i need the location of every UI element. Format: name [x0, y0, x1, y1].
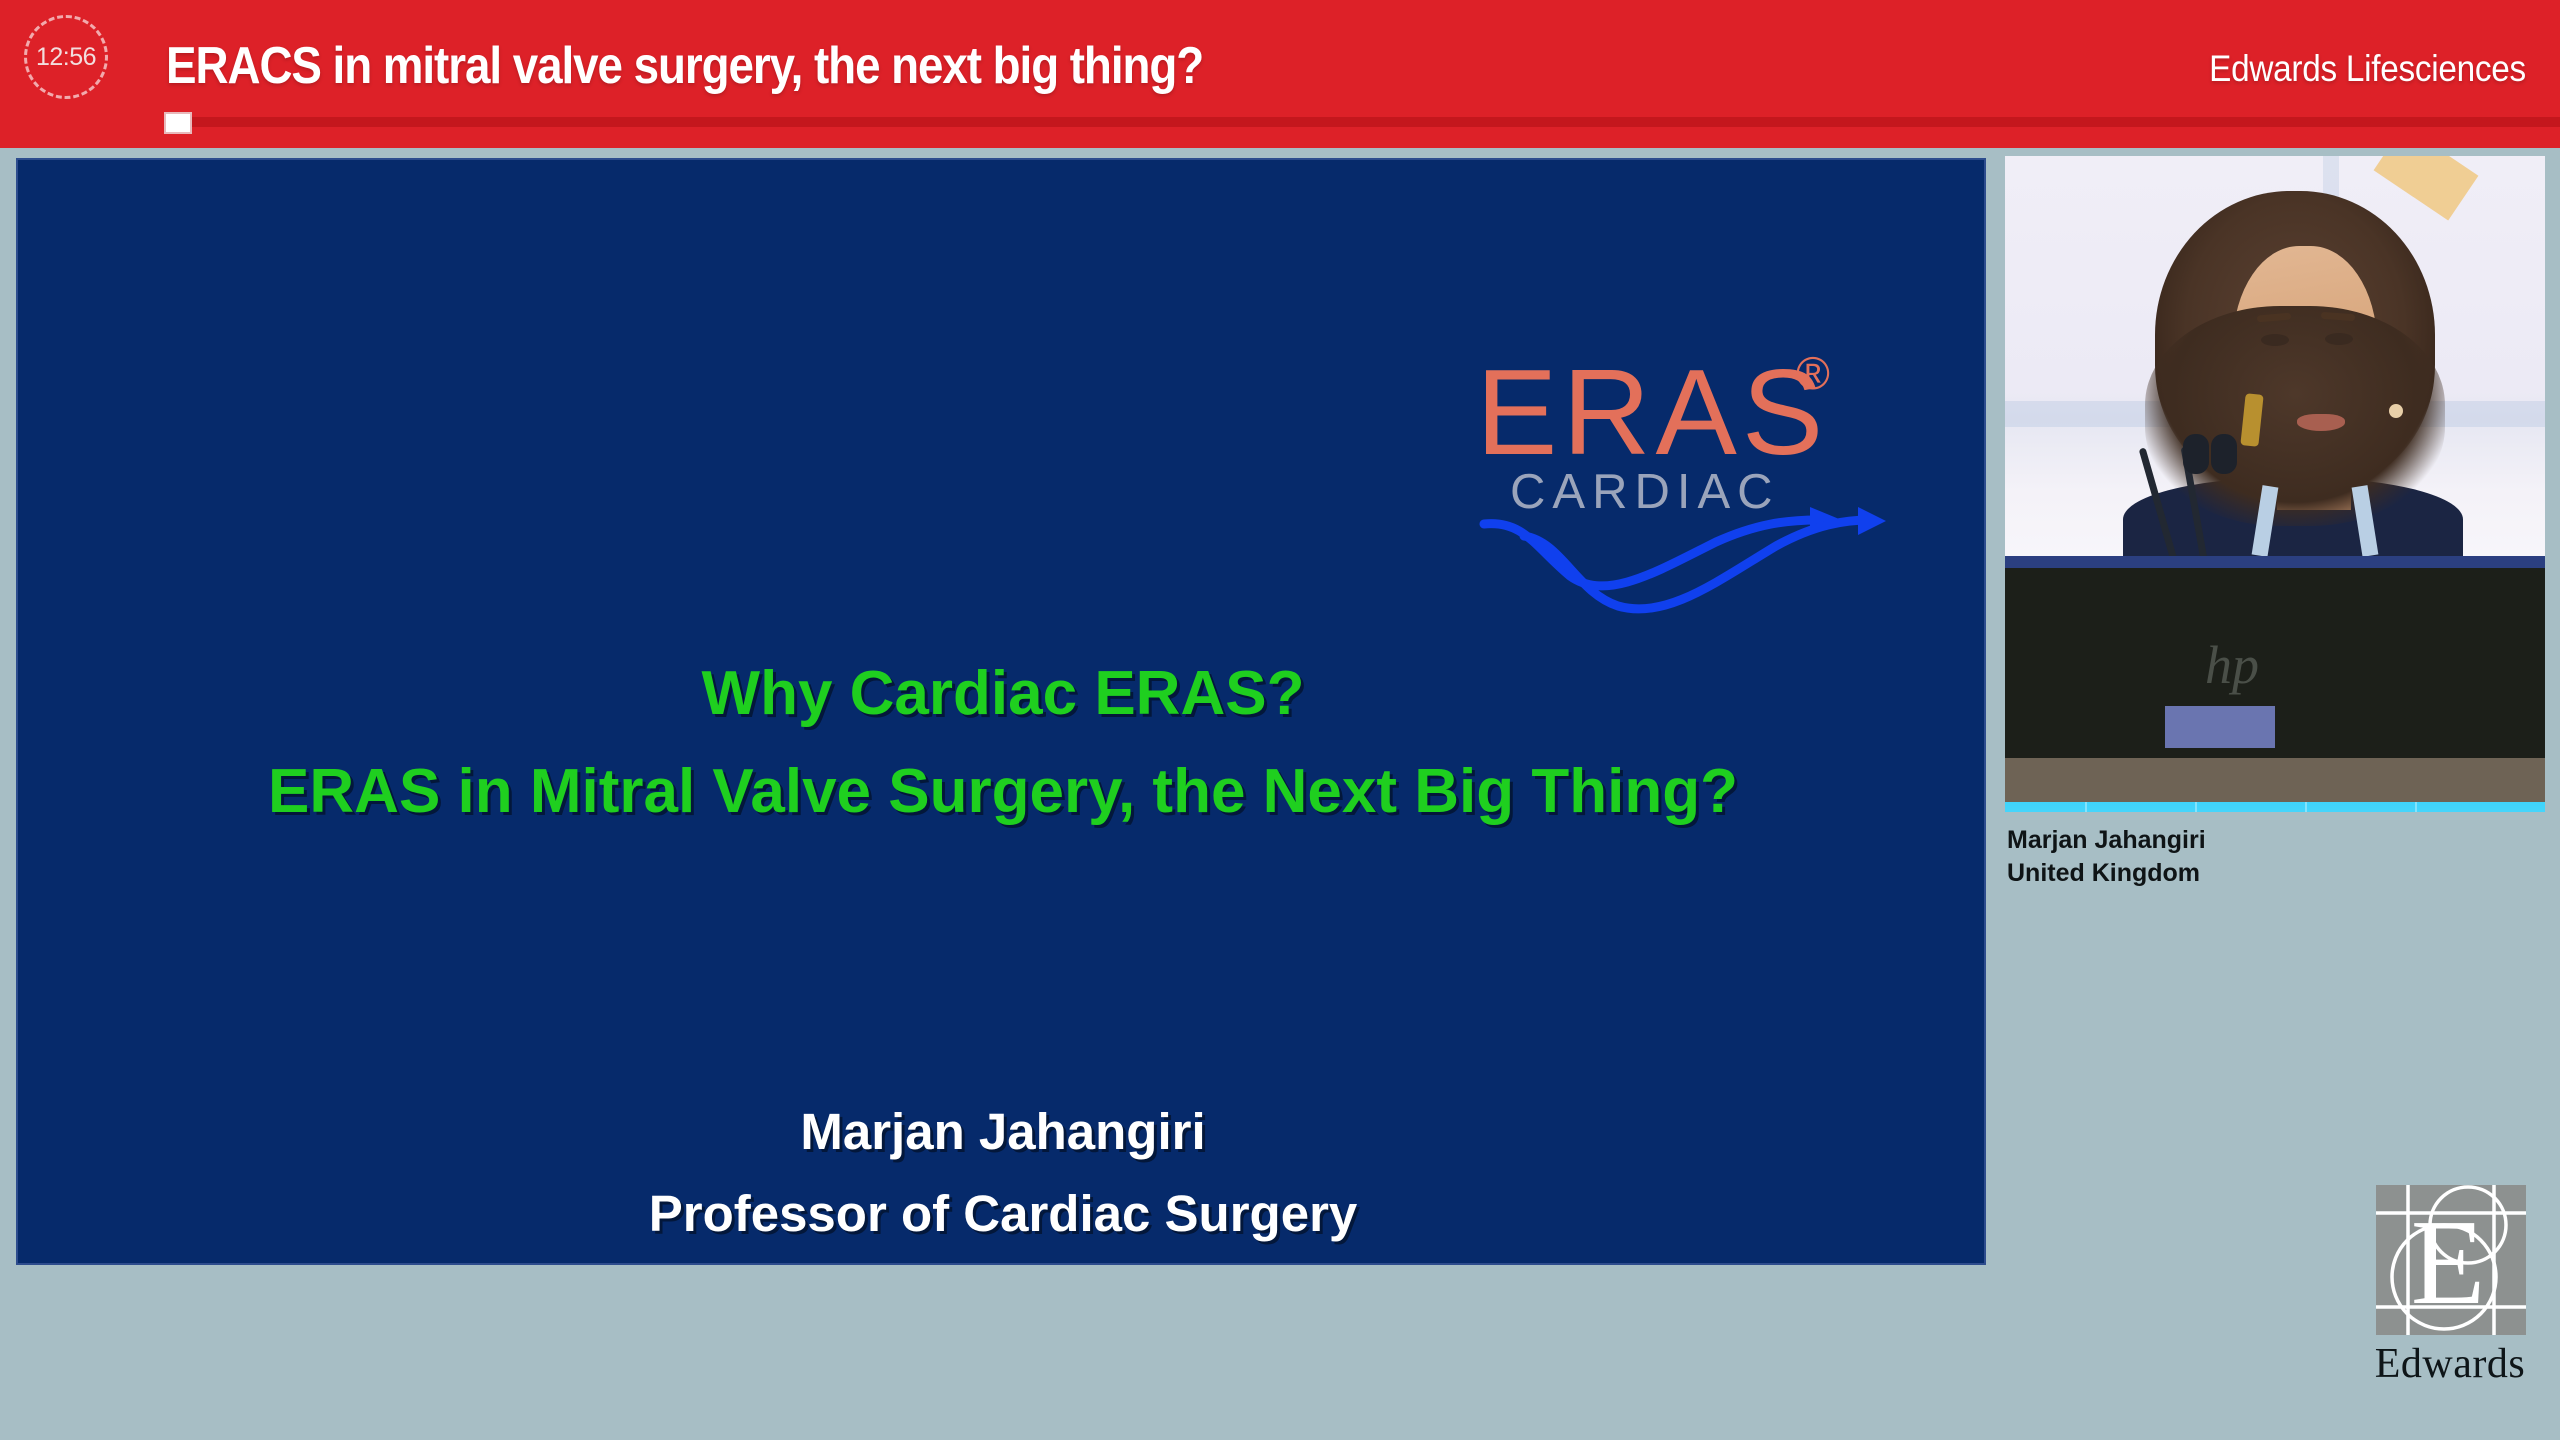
stage-floor-light — [2005, 802, 2545, 812]
podium-microphone-head-right — [2211, 434, 2237, 474]
eras-cardiac-logo: ERAS ® CARDIAC — [1466, 342, 1886, 642]
speaker-caption-country: United Kingdom — [2007, 857, 2547, 890]
edwards-logo-wordmark: Edwards — [2364, 1340, 2536, 1388]
podium-base-band — [2005, 758, 2545, 802]
speaker-mouth — [2297, 414, 2345, 431]
session-header-bar: 12:56 ERACS in mitral valve surgery, the… — [0, 0, 2560, 148]
slide-presenter-title: Professor of Cardiac Surgery — [18, 1184, 1986, 1243]
session-timer: 12:56 — [24, 15, 108, 99]
stage-light-seam — [2195, 802, 2197, 812]
eras-wave-arrows-icon — [1466, 502, 1886, 632]
speaker-video-feed[interactable]: hp — [2005, 156, 2545, 812]
session-title: ERACS in mitral valve surgery, the next … — [166, 36, 1203, 96]
podium-microphone-head-left — [2183, 434, 2209, 474]
presentation-slide[interactable]: ERAS ® CARDIAC Why Cardiac ERAS? ERAS in… — [16, 158, 1986, 1265]
speaker-headset-microphone-icon — [2389, 404, 2403, 418]
slide-heading-primary: Why Cardiac ERAS? — [18, 658, 1986, 729]
session-timer-label: 12:56 — [36, 43, 96, 72]
playback-progress-handle[interactable] — [164, 112, 192, 134]
speaker-caption-name: Marjan Jahangiri — [2007, 824, 2547, 857]
speaker-eye-left — [2261, 334, 2289, 346]
eras-logo-wordmark: ERAS — [1476, 342, 1828, 482]
stage-light-seam — [2415, 802, 2417, 812]
svg-text:E: E — [2411, 1195, 2486, 1330]
podium-monitor-brand-logo: hp — [2205, 634, 2267, 690]
playback-progress-track[interactable] — [168, 117, 2560, 127]
slide-heading-secondary: ERAS in Mitral Valve Surgery, the Next B… — [18, 756, 1986, 827]
sponsor-brand-label: Edwards Lifesciences — [2209, 48, 2526, 90]
stage-light-seam — [2085, 802, 2087, 812]
edwards-logo-glyph-icon: E — [2376, 1185, 2526, 1335]
edwards-logo: E Edwards — [2364, 1185, 2536, 1395]
speaker-caption: Marjan Jahangiri United Kingdom — [2007, 824, 2547, 890]
slide-presenter-name: Marjan Jahangiri — [18, 1102, 1986, 1161]
speaker-eye-right — [2325, 333, 2353, 345]
podium-front-panel — [2005, 568, 2545, 758]
registered-trademark-icon: ® — [1796, 350, 1830, 396]
stage-light-seam — [2305, 802, 2307, 812]
podium-monitor-card — [2165, 706, 2275, 748]
app-root: 12:56 ERACS in mitral valve surgery, the… — [0, 0, 2560, 1440]
